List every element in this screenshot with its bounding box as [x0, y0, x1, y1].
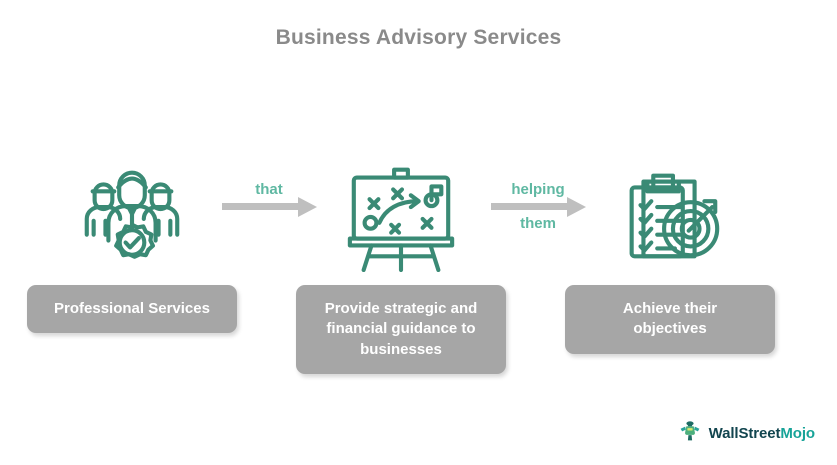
team-gear-check-icon — [27, 150, 237, 275]
label-line: financial guidance to — [306, 319, 496, 339]
label-line: Achieve their — [575, 299, 765, 319]
stage-label-professional-services: Professional Services — [27, 285, 237, 333]
label-line: Provide strategic and — [306, 299, 496, 319]
stage-professional-services: Professional Services — [27, 150, 237, 333]
logo-text: WallStreetMojo — [709, 425, 815, 442]
wallstreetmojo-bull-icon — [678, 419, 702, 448]
process-flow-diagram: Professional Services that — [0, 150, 837, 400]
label-line: objectives — [575, 319, 765, 339]
wallstreetmojo-logo[interactable]: WallStreetMojo — [678, 419, 815, 448]
stage-label-strategic-guidance: Provide strategic and financial guidance… — [296, 285, 506, 374]
logo-text-accent: Mojo — [780, 425, 815, 442]
strategy-board-easel-icon — [296, 150, 506, 275]
stage-achieve-objectives: Achieve their objectives — [565, 150, 775, 354]
page-title: Business Advisory Services — [0, 26, 837, 50]
stage-label-achieve-objectives: Achieve their objectives — [565, 285, 775, 354]
label-line: businesses — [306, 340, 496, 360]
label-line: Professional Services — [37, 299, 227, 319]
arrow-shaft — [491, 203, 567, 210]
clipboard-target-icon — [565, 150, 775, 275]
logo-text-primary: WallStreet — [709, 425, 781, 442]
stage-strategic-guidance: Provide strategic and financial guidance… — [296, 150, 506, 374]
arrow-shaft — [222, 203, 298, 210]
